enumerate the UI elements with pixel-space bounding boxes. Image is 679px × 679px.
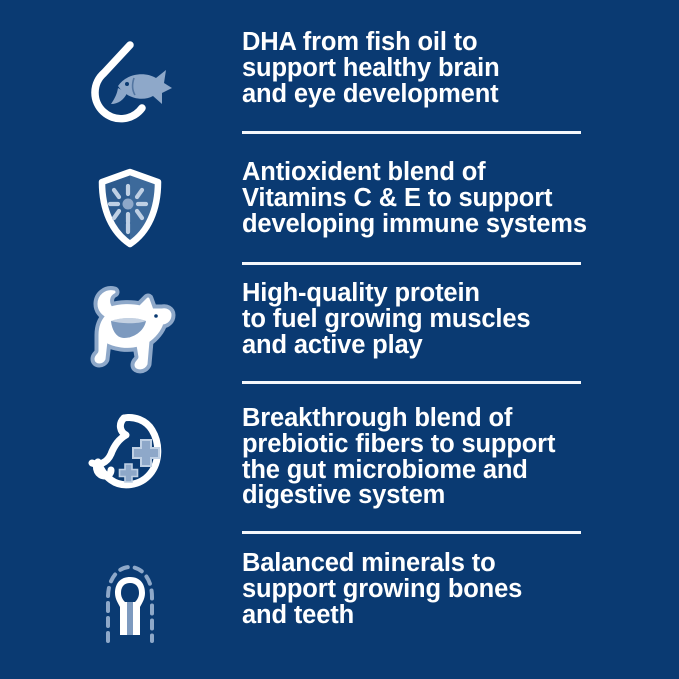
benefit-row: Balanced minerals to support growing bon… — [0, 551, 679, 653]
benefit-text-cell: Balanced minerals to support growing bon… — [242, 551, 679, 628]
shield-sunburst-icon — [0, 160, 242, 256]
divider — [242, 262, 581, 265]
benefit-text-cell: High-quality protein to fuel growing mus… — [242, 281, 679, 358]
benefit-text-cell: Antioxident blend of Vitamins C & E to s… — [242, 160, 679, 237]
stomach-plus-icon — [0, 406, 242, 502]
divider — [242, 531, 581, 534]
benefits-panel: DHA from fish oil to support healthy bra… — [0, 0, 679, 679]
benefit-text: DHA from fish oil to support healthy bra… — [242, 30, 665, 107]
tooth-bone-icon — [0, 553, 242, 653]
benefit-text: High-quality protein to fuel growing mus… — [242, 281, 665, 358]
benefit-text-cell: DHA from fish oil to support healthy bra… — [242, 30, 679, 107]
divider — [242, 131, 581, 134]
benefit-text: Breakthrough blend of prebiotic fibers t… — [242, 406, 665, 509]
benefit-text: Balanced minerals to support growing bon… — [242, 551, 665, 628]
benefit-row: High-quality protein to fuel growing mus… — [0, 281, 679, 379]
benefit-text: Antioxident blend of Vitamins C & E to s… — [242, 160, 665, 237]
benefit-text-cell: Breakthrough blend of prebiotic fibers t… — [242, 406, 679, 509]
divider — [242, 381, 581, 384]
benefit-list: DHA from fish oil to support healthy bra… — [0, 0, 679, 679]
cat-muscle-icon — [0, 283, 242, 379]
benefit-row: DHA from fish oil to support healthy bra… — [0, 30, 679, 132]
benefit-row: Antioxident blend of Vitamins C & E to s… — [0, 160, 679, 256]
droplet-fish-icon — [0, 36, 242, 132]
benefit-row: Breakthrough blend of prebiotic fibers t… — [0, 406, 679, 509]
